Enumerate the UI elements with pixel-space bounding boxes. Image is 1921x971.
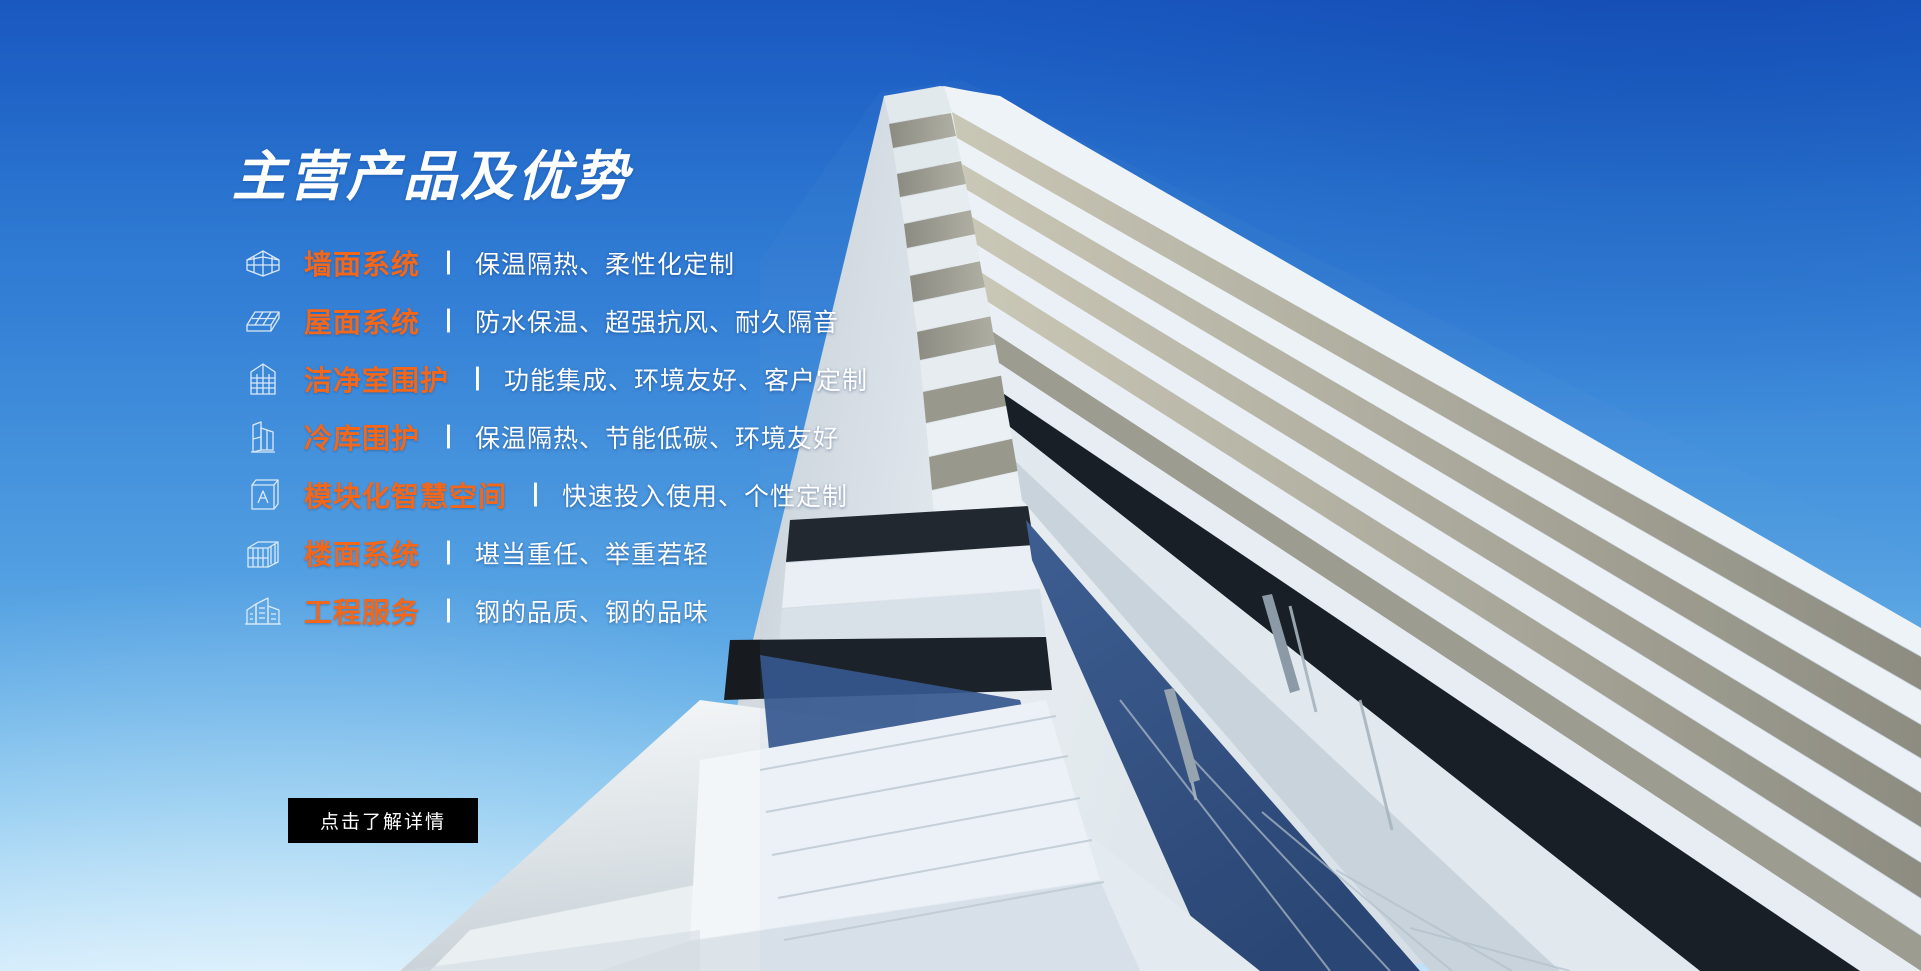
engineering-icon: [240, 590, 286, 632]
product-list: 墙面系统 丨 保温隔热、柔性化定制: [240, 234, 1172, 640]
list-item[interactable]: 洁净室围护 丨 功能集成、环境友好、客户定制: [240, 350, 1172, 408]
list-item-separator: 丨: [436, 592, 461, 628]
list-item-title: 墙面系统: [304, 243, 420, 283]
list-item[interactable]: 屋面系统 丨 防水保温、超强抗风、耐久隔音: [240, 292, 1172, 350]
wall-panel-icon: [240, 242, 286, 284]
cold-storage-icon: [240, 416, 286, 458]
list-item-separator: 丨: [465, 360, 490, 396]
list-item-separator: 丨: [436, 418, 461, 454]
list-item[interactable]: 工程服务 丨 钢的品质、钢的品味: [240, 582, 1172, 640]
list-item-separator: 丨: [523, 476, 548, 512]
roof-panel-icon: [240, 300, 286, 342]
list-item-description: 保温隔热、节能低碳、环境友好: [475, 419, 839, 455]
hero-banner: 主营产品及优势 墙面系统: [0, 0, 1921, 971]
list-item[interactable]: 冷库围护 丨 保温隔热、节能低碳、环境友好: [240, 408, 1172, 466]
learn-more-button[interactable]: 点击了解详情: [288, 798, 478, 843]
list-item-title: 工程服务: [304, 591, 420, 631]
list-item-description: 堪当重任、举重若轻: [475, 535, 709, 571]
list-item[interactable]: 模块化智慧空间 丨 快速投入使用、个性定制: [240, 466, 1172, 524]
list-item-title: 楼面系统: [304, 533, 420, 573]
list-item-description: 快速投入使用、个性定制: [562, 477, 848, 513]
list-item[interactable]: 墙面系统 丨 保温隔热、柔性化定制: [240, 234, 1172, 292]
modular-space-icon: [240, 474, 286, 516]
list-item-separator: 丨: [436, 534, 461, 570]
list-item-separator: 丨: [436, 302, 461, 338]
list-item-separator: 丨: [436, 244, 461, 280]
list-item-title: 洁净室围护: [304, 359, 449, 399]
list-item-description: 功能集成、环境友好、客户定制: [504, 361, 868, 397]
list-item-description: 保温隔热、柔性化定制: [475, 245, 735, 281]
list-item-title: 屋面系统: [304, 301, 420, 341]
list-item-title: 冷库围护: [304, 417, 420, 457]
cleanroom-icon: [240, 358, 286, 400]
list-item-description: 钢的品质、钢的品味: [475, 593, 709, 629]
page-title: 主营产品及优势: [232, 150, 1172, 204]
list-item[interactable]: 楼面系统 丨 堪当重任、举重若轻: [240, 524, 1172, 582]
list-item-description: 防水保温、超强抗风、耐久隔音: [475, 303, 839, 339]
list-item-title: 模块化智慧空间: [304, 475, 507, 515]
floor-system-icon: [240, 532, 286, 574]
banner-content: 主营产品及优势 墙面系统: [232, 150, 1172, 640]
